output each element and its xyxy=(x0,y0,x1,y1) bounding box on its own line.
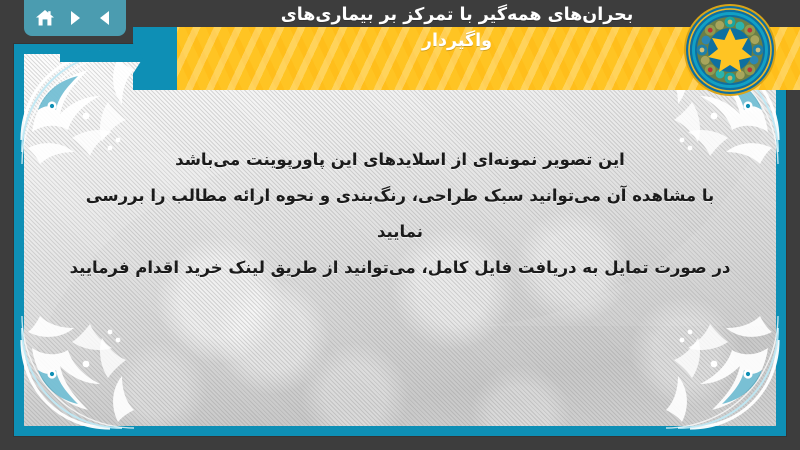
slide-body-text: این تصویر نمونه‌ای از اسلایدهای این پاور… xyxy=(24,142,776,286)
chrome-bottom-edge xyxy=(0,436,800,450)
page-title: کامل تحلیل نقش دفاع زیستی در کنترل بحران… xyxy=(222,0,692,54)
slide-canvas: این تصویر نمونه‌ای از اسلایدهای این پاور… xyxy=(14,44,786,436)
slide-viewer: این تصویر نمونه‌ای از اسلایدهای این پاور… xyxy=(0,0,800,450)
forward-arrow-icon[interactable] xyxy=(63,6,87,30)
back-arrow-icon[interactable] xyxy=(93,6,117,30)
body-line-1: این تصویر نمونه‌ای از اسلایدهای این پاور… xyxy=(64,142,736,178)
home-icon[interactable] xyxy=(33,6,57,30)
navigation-toolbar[interactable] xyxy=(24,0,126,36)
body-line-3: در صورت تمایل به دریافت فایل کامل، می‌تو… xyxy=(64,250,736,286)
mandala-medallion-icon xyxy=(682,2,778,98)
body-line-2: با مشاهده آن می‌توانید سبک طراحی، رنگ‌بن… xyxy=(64,178,736,250)
chrome-left-edge xyxy=(0,0,14,450)
